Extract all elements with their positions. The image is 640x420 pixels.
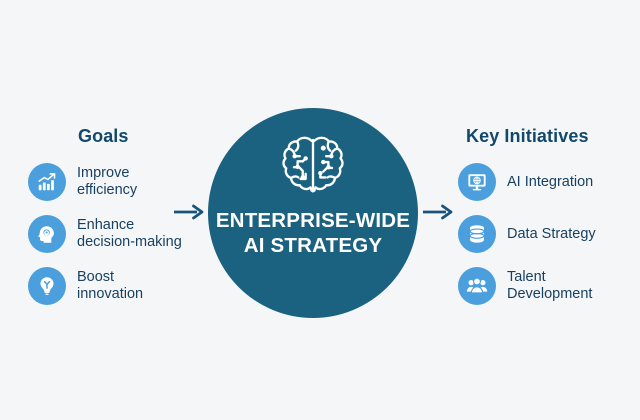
lightbulb-icon [28, 267, 66, 305]
goal-item-label: Enhance decision-making [77, 217, 182, 251]
key-initiatives-heading: Key Initiatives [466, 126, 589, 147]
goal-item-improve-efficiency[interactable]: Improve efficiency [28, 163, 137, 201]
goal-item-enhance-decision-making[interactable]: Enhance decision-making [28, 215, 182, 253]
goals-heading: Goals [78, 126, 129, 147]
people-group-icon [458, 267, 496, 305]
goal-item-boost-innovation[interactable]: Boost innovation [28, 267, 143, 305]
initiative-item-label: Talent Development [507, 269, 592, 303]
initiative-item-ai-integration[interactable]: AI Integration [458, 163, 593, 201]
database-icon [458, 215, 496, 253]
initiative-item-label: AI Integration [507, 174, 593, 191]
initiative-item-label: Data Strategy [507, 226, 596, 243]
initiative-item-talent-development[interactable]: Talent Development [458, 267, 592, 305]
monitor-ai-icon [458, 163, 496, 201]
diagram-canvas: Goals Improve efficiency Enhance decisio… [0, 0, 640, 420]
center-circle-enterprise-ai-strategy[interactable]: ENTERPRISE-WIDE AI STRATEGY [208, 108, 418, 318]
brain-circuit-icon [276, 132, 350, 198]
goal-item-label: Improve efficiency [77, 165, 137, 199]
head-gear-icon [28, 215, 66, 253]
center-title: ENTERPRISE-WIDE AI STRATEGY [216, 208, 410, 258]
initiative-item-data-strategy[interactable]: Data Strategy [458, 215, 596, 253]
arrow-right-icon [172, 202, 206, 222]
bar-chart-growth-icon [28, 163, 66, 201]
goal-item-label: Boost innovation [77, 269, 143, 303]
arrow-right-icon [421, 202, 455, 222]
